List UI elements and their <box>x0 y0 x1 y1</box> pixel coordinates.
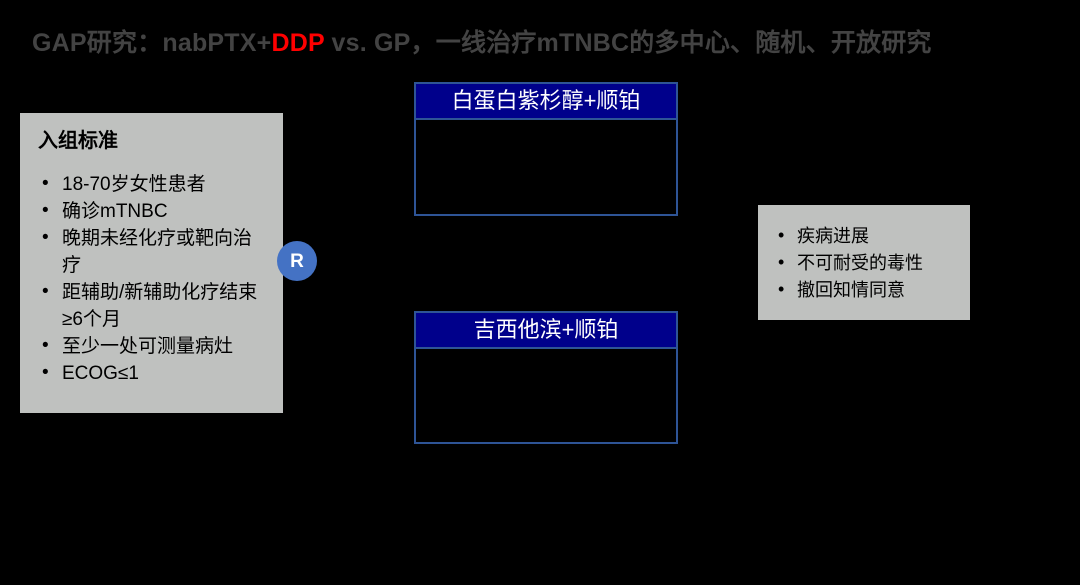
page-title: GAP研究：nabPTX+DDP vs. GP，一线治疗mTNBC的多中心、随机… <box>32 26 1052 60</box>
treatment-arm-control-header: 吉西他滨+顺铂 <box>416 313 676 349</box>
list-item: ECOG≤1 <box>36 360 269 387</box>
treatment-arm-experimental-body <box>416 120 676 214</box>
list-item: 疾病进展 <box>772 223 958 250</box>
page-title-highlight: DDP <box>271 29 324 57</box>
randomization-node: R <box>277 241 317 281</box>
list-item: 不可耐受的毒性 <box>772 250 958 277</box>
list-item: 18-70岁女性患者 <box>36 171 269 198</box>
list-item: 确诊mTNBC <box>36 198 269 225</box>
page-title-segment-1: GAP研究：nabPTX+ <box>32 29 271 57</box>
list-item: 距辅助/新辅助化疗结束≥6个月 <box>36 279 269 333</box>
treatment-arm-experimental: 白蛋白紫杉醇+顺铂 <box>414 82 678 216</box>
list-item: 至少一处可测量病灶 <box>36 333 269 360</box>
list-item: 晚期未经化疗或靶向治疗 <box>36 225 269 279</box>
randomization-label: R <box>290 252 304 271</box>
list-item: 撤回知情同意 <box>772 277 958 304</box>
eligibility-list: 18-70岁女性患者 确诊mTNBC 晚期未经化疗或靶向治疗 距辅助/新辅助化疗… <box>36 171 269 387</box>
discontinuation-list: 疾病进展 不可耐受的毒性 撤回知情同意 <box>772 223 958 304</box>
treatment-arm-control: 吉西他滨+顺铂 <box>414 311 678 444</box>
treatment-arm-control-body <box>416 349 676 442</box>
eligibility-criteria-panel: 入组标准 18-70岁女性患者 确诊mTNBC 晚期未经化疗或靶向治疗 距辅助/… <box>20 113 283 413</box>
page-title-segment-3: vs. GP，一线治疗mTNBC的多中心、随机、开放研究 <box>324 29 931 57</box>
eligibility-heading: 入组标准 <box>38 129 269 153</box>
treatment-arm-experimental-header: 白蛋白紫杉醇+顺铂 <box>416 84 676 120</box>
discontinuation-criteria-panel: 疾病进展 不可耐受的毒性 撤回知情同意 <box>758 205 970 320</box>
